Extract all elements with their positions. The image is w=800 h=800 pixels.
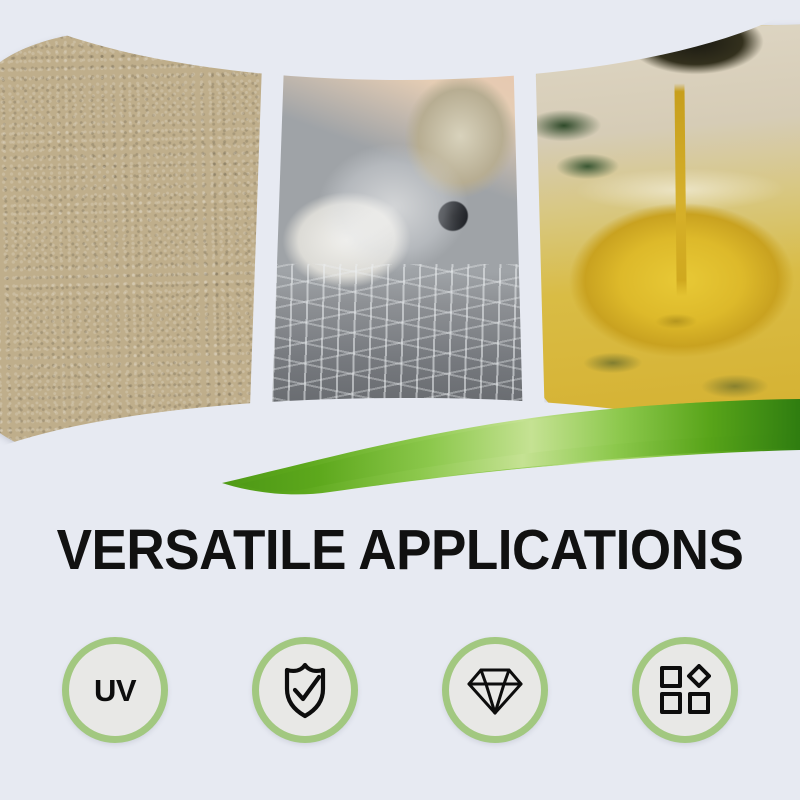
feature-protection[interactable] bbox=[252, 637, 358, 743]
grid-apps-icon bbox=[659, 664, 711, 716]
panel-legumes bbox=[0, 27, 282, 463]
panel-olive-oil bbox=[534, 24, 800, 437]
versatile-applications-banner: VERSATILE APPLICATIONS UV bbox=[0, 0, 800, 800]
shield-check-icon bbox=[278, 661, 332, 719]
olive-oil-photo bbox=[534, 24, 800, 437]
dishware-photo bbox=[270, 40, 533, 440]
uv-text-icon: UV bbox=[94, 675, 136, 706]
feature-icon-row: UV bbox=[62, 634, 738, 746]
photo-collage bbox=[0, 0, 800, 470]
feature-uv[interactable]: UV bbox=[62, 637, 168, 743]
panel-dishware bbox=[270, 40, 533, 440]
legumes-photo bbox=[0, 27, 282, 463]
feature-multi-use[interactable] bbox=[632, 637, 738, 743]
diamond-gem-icon bbox=[467, 664, 523, 716]
page-title: VERSATILE APPLICATIONS bbox=[28, 520, 772, 580]
feature-quality[interactable] bbox=[442, 637, 548, 743]
